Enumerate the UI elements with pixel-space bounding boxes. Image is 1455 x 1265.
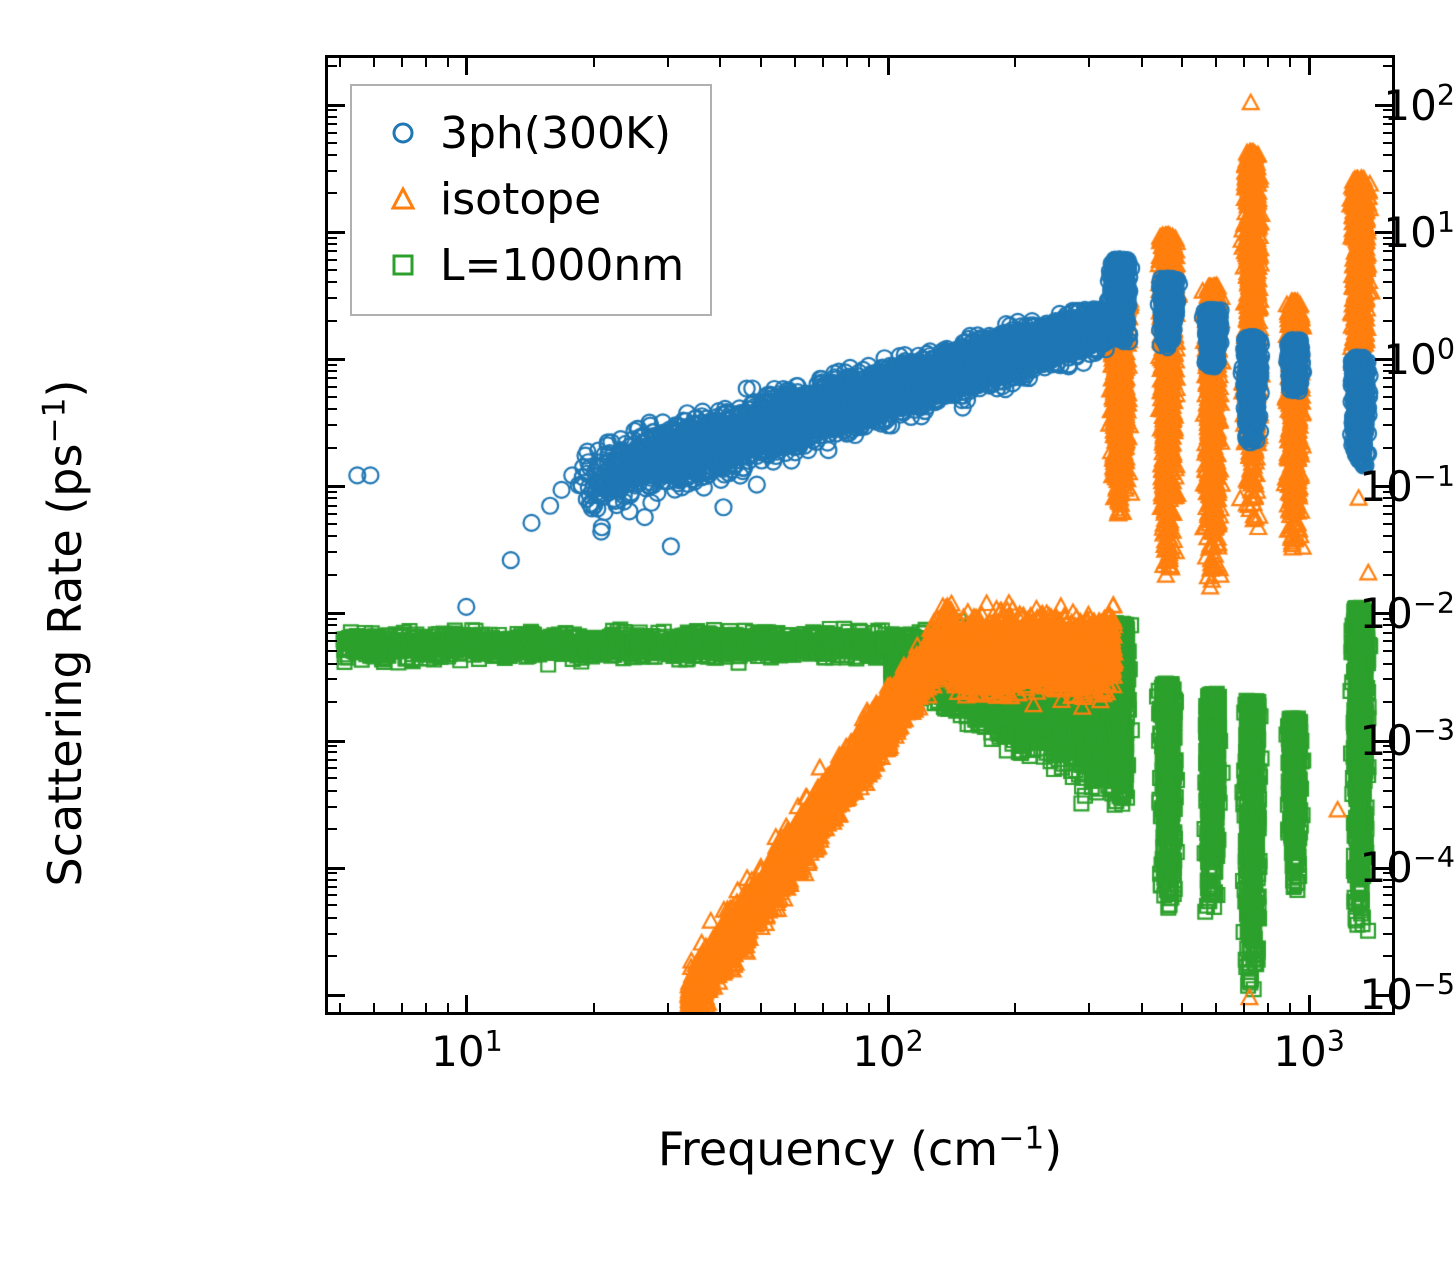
y-minor-tick bbox=[328, 243, 337, 245]
y-minor-tick bbox=[328, 624, 337, 626]
y-minor-tick bbox=[328, 745, 337, 747]
x-minor-tick-top bbox=[1141, 58, 1143, 67]
x-major-tick bbox=[465, 995, 468, 1012]
y-minor-tick bbox=[328, 237, 337, 239]
y-tick-label-3: 10−1 bbox=[1144, 466, 1455, 508]
triangle-open-icon bbox=[372, 184, 434, 214]
y-minor-tick bbox=[328, 904, 337, 906]
y-minor-tick-right bbox=[1383, 879, 1392, 881]
x-minor-tick bbox=[447, 1003, 449, 1012]
y-minor-tick bbox=[328, 574, 337, 576]
y-minor-tick bbox=[328, 790, 337, 792]
y-major-tick-right bbox=[1375, 867, 1392, 870]
y-axis-label: Scattering Rate (ps−1) bbox=[38, 133, 92, 1133]
y-minor-tick bbox=[328, 894, 337, 896]
x-minor-tick bbox=[593, 1003, 595, 1012]
y-minor-tick-right bbox=[1383, 370, 1392, 372]
y-minor-tick bbox=[328, 759, 337, 761]
y-minor-tick-right bbox=[1383, 523, 1392, 525]
y-minor-tick bbox=[328, 192, 337, 194]
x-minor-tick bbox=[822, 1003, 824, 1012]
square-open-icon bbox=[372, 250, 434, 280]
x-minor-tick-top bbox=[760, 58, 762, 67]
x-minor-tick-top bbox=[1088, 58, 1090, 67]
y-minor-tick bbox=[328, 618, 337, 620]
x-minor-tick-top bbox=[1289, 58, 1291, 67]
y-tick-label-5: 10−3 bbox=[1144, 720, 1455, 762]
x-minor-tick bbox=[846, 1003, 848, 1012]
y-minor-tick-right bbox=[1383, 701, 1392, 703]
y-minor-tick-right bbox=[1383, 142, 1392, 144]
y-minor-tick-right bbox=[1383, 281, 1392, 283]
y-minor-tick-right bbox=[1383, 790, 1392, 792]
y-major-tick-right bbox=[1375, 485, 1392, 488]
y-minor-tick-right bbox=[1383, 574, 1392, 576]
y-minor-tick bbox=[328, 269, 337, 271]
y-minor-tick-right bbox=[1383, 424, 1392, 426]
y-major-tick bbox=[328, 612, 345, 615]
y-minor-tick bbox=[328, 123, 337, 125]
x-minor-tick-top bbox=[401, 58, 403, 67]
y-major-tick-right bbox=[1375, 231, 1392, 234]
y-major-tick bbox=[328, 485, 345, 488]
x-minor-tick-top bbox=[822, 58, 824, 67]
y-minor-tick bbox=[328, 886, 337, 888]
x-minor-tick bbox=[1267, 1003, 1269, 1012]
y-minor-tick bbox=[328, 933, 337, 935]
y-major-tick-right bbox=[1375, 612, 1392, 615]
y-minor-tick bbox=[328, 828, 337, 830]
y-minor-tick bbox=[328, 551, 337, 553]
x-minor-tick-top bbox=[373, 58, 375, 67]
y-minor-tick bbox=[328, 396, 337, 398]
y-minor-tick-right bbox=[1383, 447, 1392, 449]
y-minor-tick bbox=[328, 513, 337, 515]
x-minor-tick-top bbox=[1267, 58, 1269, 67]
legend-item-3ph[interactable]: 3ph(300K) bbox=[372, 100, 684, 166]
y-minor-tick-right bbox=[1383, 513, 1392, 515]
y-major-tick bbox=[328, 104, 345, 107]
y-minor-tick bbox=[328, 955, 337, 957]
y-major-tick bbox=[328, 358, 345, 361]
x-minor-tick bbox=[1243, 1003, 1245, 1012]
x-tick-label-0: 101 bbox=[431, 1031, 503, 1073]
y-minor-tick-right bbox=[1383, 535, 1392, 537]
y-minor-tick bbox=[328, 497, 337, 499]
y-minor-tick-right bbox=[1383, 497, 1392, 499]
y-minor-tick-right bbox=[1383, 650, 1392, 652]
y-minor-tick-right bbox=[1383, 65, 1392, 67]
y-minor-tick-right bbox=[1383, 767, 1392, 769]
y-minor-tick-right bbox=[1383, 551, 1392, 553]
y-minor-tick-right bbox=[1383, 320, 1392, 322]
y-minor-tick-right bbox=[1383, 872, 1392, 874]
x-minor-tick bbox=[794, 1003, 796, 1012]
y-minor-tick bbox=[328, 408, 337, 410]
x-minor-tick-top bbox=[339, 58, 341, 67]
x-major-tick bbox=[1308, 995, 1311, 1012]
y-minor-tick bbox=[328, 879, 337, 881]
x-minor-tick-top bbox=[868, 58, 870, 67]
x-minor-tick bbox=[373, 1003, 375, 1012]
y-minor-tick bbox=[328, 364, 337, 366]
y-minor-tick-right bbox=[1383, 170, 1392, 172]
y-major-tick-right bbox=[1375, 994, 1392, 997]
x-minor-tick bbox=[339, 1003, 341, 1012]
y-minor-tick bbox=[328, 297, 337, 299]
y-minor-tick-right bbox=[1383, 618, 1392, 620]
x-major-tick-top bbox=[1308, 58, 1311, 75]
y-minor-tick-right bbox=[1383, 894, 1392, 896]
y-minor-tick-right bbox=[1383, 123, 1392, 125]
y-minor-tick bbox=[328, 109, 337, 111]
y-minor-tick bbox=[328, 377, 337, 379]
y-minor-tick-right bbox=[1383, 386, 1392, 388]
x-minor-tick bbox=[667, 1003, 669, 1012]
y-minor-tick bbox=[328, 678, 337, 680]
y-tick-label-7: 10−5 bbox=[1144, 974, 1455, 1016]
x-minor-tick bbox=[1014, 1003, 1016, 1012]
x-minor-tick bbox=[1181, 1003, 1183, 1012]
x-minor-tick-top bbox=[425, 58, 427, 67]
y-minor-tick bbox=[328, 751, 337, 753]
x-tick-label-1: 102 bbox=[852, 1031, 924, 1073]
x-major-tick-top bbox=[887, 58, 890, 75]
y-minor-tick bbox=[328, 767, 337, 769]
x-minor-tick-top bbox=[593, 58, 595, 67]
x-axis-label: Frequency (cm−1) bbox=[325, 1122, 1395, 1176]
y-minor-tick bbox=[328, 370, 337, 372]
y-minor-tick bbox=[328, 491, 337, 493]
y-minor-tick bbox=[328, 917, 337, 919]
y-minor-tick-right bbox=[1383, 806, 1392, 808]
y-minor-tick-right bbox=[1383, 243, 1392, 245]
y-minor-tick-right bbox=[1383, 364, 1392, 366]
y-major-tick-right bbox=[1375, 740, 1392, 743]
circle-open-icon bbox=[372, 118, 434, 148]
y-minor-tick-right bbox=[1383, 505, 1392, 507]
y-minor-tick-right bbox=[1383, 132, 1392, 134]
y-minor-tick bbox=[328, 250, 337, 252]
y-minor-tick bbox=[328, 424, 337, 426]
x-minor-tick-top bbox=[1014, 58, 1016, 67]
y-minor-tick-right bbox=[1383, 632, 1392, 634]
y-minor-tick bbox=[328, 170, 337, 172]
y-minor-tick bbox=[328, 132, 337, 134]
x-minor-tick bbox=[1215, 1003, 1217, 1012]
x-minor-tick-top bbox=[447, 58, 449, 67]
x-minor-tick-top bbox=[1215, 58, 1217, 67]
y-minor-tick-right bbox=[1383, 250, 1392, 252]
y-minor-tick-right bbox=[1383, 116, 1392, 118]
y-minor-tick-right bbox=[1383, 297, 1392, 299]
y-minor-tick-right bbox=[1383, 640, 1392, 642]
y-major-tick bbox=[328, 231, 345, 234]
y-minor-tick bbox=[328, 142, 337, 144]
legend-label-boundary: L=1000nm bbox=[440, 240, 684, 291]
y-minor-tick-right bbox=[1383, 237, 1392, 239]
y-minor-tick bbox=[328, 806, 337, 808]
y-minor-tick bbox=[328, 447, 337, 449]
y-major-tick-right bbox=[1375, 104, 1392, 107]
y-tick-label-2: 100 bbox=[1144, 339, 1455, 381]
y-minor-tick-right bbox=[1383, 396, 1392, 398]
y-minor-tick bbox=[328, 154, 337, 156]
y-minor-tick-right bbox=[1383, 777, 1392, 779]
y-minor-tick bbox=[328, 505, 337, 507]
y-minor-tick-right bbox=[1383, 759, 1392, 761]
y-minor-tick bbox=[328, 640, 337, 642]
x-minor-tick-top bbox=[667, 58, 669, 67]
x-major-tick-top bbox=[465, 58, 468, 75]
y-minor-tick bbox=[328, 872, 337, 874]
y-major-tick bbox=[328, 867, 345, 870]
y-minor-tick bbox=[328, 632, 337, 634]
x-major-tick bbox=[887, 995, 890, 1012]
x-minor-tick bbox=[1141, 1003, 1143, 1012]
y-minor-tick-right bbox=[1383, 269, 1392, 271]
y-minor-tick bbox=[328, 386, 337, 388]
y-minor-tick bbox=[328, 116, 337, 118]
y-minor-tick-right bbox=[1383, 663, 1392, 665]
x-tick-label-2: 103 bbox=[1273, 1031, 1345, 1073]
x-minor-tick bbox=[1289, 1003, 1291, 1012]
y-minor-tick-right bbox=[1383, 886, 1392, 888]
x-minor-tick bbox=[401, 1003, 403, 1012]
x-minor-tick bbox=[868, 1003, 870, 1012]
y-minor-tick bbox=[328, 320, 337, 322]
x-minor-tick bbox=[1088, 1003, 1090, 1012]
y-minor-tick-right bbox=[1383, 624, 1392, 626]
y-minor-tick-right bbox=[1383, 192, 1392, 194]
y-tick-label-6: 10−4 bbox=[1144, 847, 1455, 889]
x-minor-tick bbox=[719, 1003, 721, 1012]
y-minor-tick-right bbox=[1383, 377, 1392, 379]
y-minor-tick bbox=[328, 777, 337, 779]
x-minor-tick-top bbox=[846, 58, 848, 67]
y-minor-tick bbox=[328, 259, 337, 261]
legend-item-isotope[interactable]: isotope bbox=[372, 166, 684, 232]
y-minor-tick bbox=[328, 535, 337, 537]
legend-item-boundary[interactable]: L=1000nm bbox=[372, 232, 684, 298]
y-minor-tick bbox=[328, 650, 337, 652]
legend-label-isotope: isotope bbox=[440, 174, 601, 225]
y-minor-tick-right bbox=[1383, 904, 1392, 906]
legend-box: 3ph(300K) isotope L=1000nm bbox=[350, 84, 712, 316]
y-minor-tick-right bbox=[1383, 259, 1392, 261]
y-minor-tick-right bbox=[1383, 828, 1392, 830]
y-minor-tick-right bbox=[1383, 933, 1392, 935]
y-minor-tick-right bbox=[1383, 917, 1392, 919]
y-tick-label-4: 10−2 bbox=[1144, 593, 1455, 635]
y-minor-tick-right bbox=[1383, 955, 1392, 957]
y-minor-tick-right bbox=[1383, 745, 1392, 747]
y-minor-tick bbox=[328, 65, 337, 67]
y-minor-tick-right bbox=[1383, 678, 1392, 680]
x-minor-tick-top bbox=[794, 58, 796, 67]
y-minor-tick-right bbox=[1383, 491, 1392, 493]
y-tick-label-0: 102 bbox=[1144, 85, 1455, 127]
scatter-plot-figure: 10210110010−110−210−310−410−5 101102103 … bbox=[0, 0, 1455, 1265]
x-minor-tick bbox=[760, 1003, 762, 1012]
y-minor-tick bbox=[328, 701, 337, 703]
legend-label-3ph: 3ph(300K) bbox=[440, 108, 671, 159]
y-minor-tick-right bbox=[1383, 109, 1392, 111]
y-minor-tick-right bbox=[1383, 408, 1392, 410]
y-tick-label-1: 101 bbox=[1144, 212, 1455, 254]
y-minor-tick bbox=[328, 281, 337, 283]
x-minor-tick-top bbox=[719, 58, 721, 67]
x-minor-tick-top bbox=[1181, 58, 1183, 67]
x-minor-tick bbox=[425, 1003, 427, 1012]
y-minor-tick bbox=[328, 663, 337, 665]
y-major-tick bbox=[328, 994, 345, 997]
x-minor-tick-top bbox=[1243, 58, 1245, 67]
y-minor-tick bbox=[328, 523, 337, 525]
y-minor-tick-right bbox=[1383, 751, 1392, 753]
y-major-tick bbox=[328, 740, 345, 743]
y-major-tick-right bbox=[1375, 358, 1392, 361]
y-minor-tick-right bbox=[1383, 154, 1392, 156]
